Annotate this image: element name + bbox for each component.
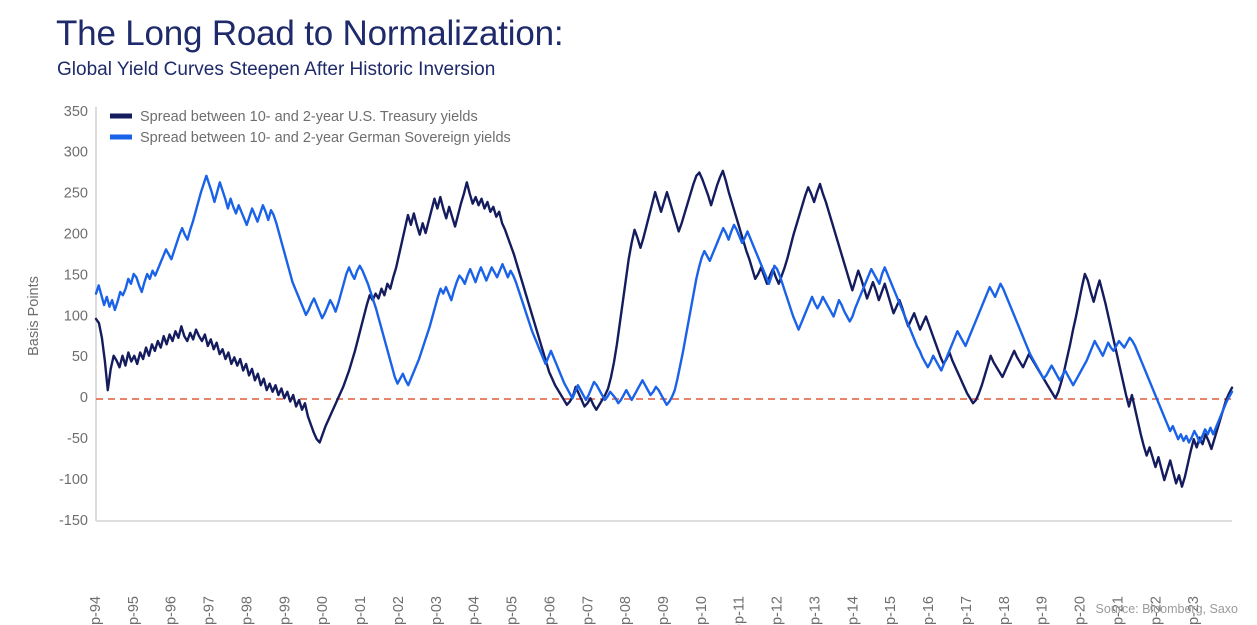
y-tick-label: -50 xyxy=(67,431,88,447)
legend-label: Spread between 10- and 2-year German Sov… xyxy=(140,130,511,146)
chart-page: The Long Road to Normalization: Global Y… xyxy=(0,0,1257,625)
y-tick-label: 250 xyxy=(64,186,88,202)
y-tick-label: 200 xyxy=(64,227,88,243)
y-axis-tick-labels: 350300250200150100500-50-100-150 xyxy=(59,104,88,529)
x-tick-label: Sep-97 xyxy=(202,596,218,625)
x-tick-label: Sep-96 xyxy=(164,596,180,625)
x-tick-label: Sep-13 xyxy=(807,596,823,625)
legend-label: Spread between 10- and 2-year U.S. Treas… xyxy=(140,109,478,125)
y-tick-label: -150 xyxy=(59,513,88,529)
x-tick-label: Sep-03 xyxy=(429,596,445,625)
x-tick-label: Sep-04 xyxy=(467,596,483,625)
x-tick-label: Sep-20 xyxy=(1073,596,1089,625)
x-tick-label: Sep-08 xyxy=(618,596,634,625)
y-tick-label: 300 xyxy=(64,145,88,161)
x-tick-label: Sep-10 xyxy=(694,596,710,625)
x-tick-label: Sep-16 xyxy=(921,596,937,625)
x-tick-label: Sep-09 xyxy=(656,596,672,625)
x-tick-label: Sep-02 xyxy=(391,596,407,625)
x-tick-label: Sep-06 xyxy=(542,596,558,625)
x-tick-label: Sep-18 xyxy=(997,596,1013,625)
x-tick-label: Sep-00 xyxy=(315,596,331,625)
y-tick-label: -100 xyxy=(59,472,88,488)
y-tick-label: 0 xyxy=(80,390,88,406)
y-axis-title: Basis Points xyxy=(26,276,42,356)
x-tick-label: Sep-19 xyxy=(1035,596,1051,625)
y-tick-label: 350 xyxy=(64,104,88,120)
x-tick-label: Sep-07 xyxy=(580,596,596,625)
x-tick-label: Sep-12 xyxy=(770,596,786,625)
x-tick-label: Sep-95 xyxy=(126,596,142,625)
x-tick-label: Sep-98 xyxy=(239,596,255,625)
x-tick-label: Sep-14 xyxy=(845,596,861,625)
x-axis-tick-labels: Sep-94Sep-95Sep-96Sep-97Sep-98Sep-99Sep-… xyxy=(88,596,1202,625)
x-tick-label: Sep-11 xyxy=(732,596,748,625)
x-tick-label: Sep-01 xyxy=(353,596,369,625)
x-tick-label: Sep-17 xyxy=(959,596,975,625)
y-tick-label: 100 xyxy=(64,308,88,324)
line-chart: 350300250200150100500-50-100-150 Sep-94S… xyxy=(0,0,1257,625)
series-line-us-treasury xyxy=(96,171,1232,487)
source-note: Source: Bloomberg, Saxo xyxy=(1096,602,1238,616)
x-tick-label: Sep-94 xyxy=(88,596,104,625)
x-tick-label: Sep-15 xyxy=(883,596,899,625)
y-tick-label: 150 xyxy=(64,267,88,283)
y-tick-label: 50 xyxy=(72,349,88,365)
series-line-german-sovereign xyxy=(96,176,1232,443)
x-tick-label: Sep-99 xyxy=(277,596,293,625)
x-tick-label: Sep-05 xyxy=(505,596,521,625)
chart-legend: Spread between 10- and 2-year U.S. Treas… xyxy=(110,109,511,146)
